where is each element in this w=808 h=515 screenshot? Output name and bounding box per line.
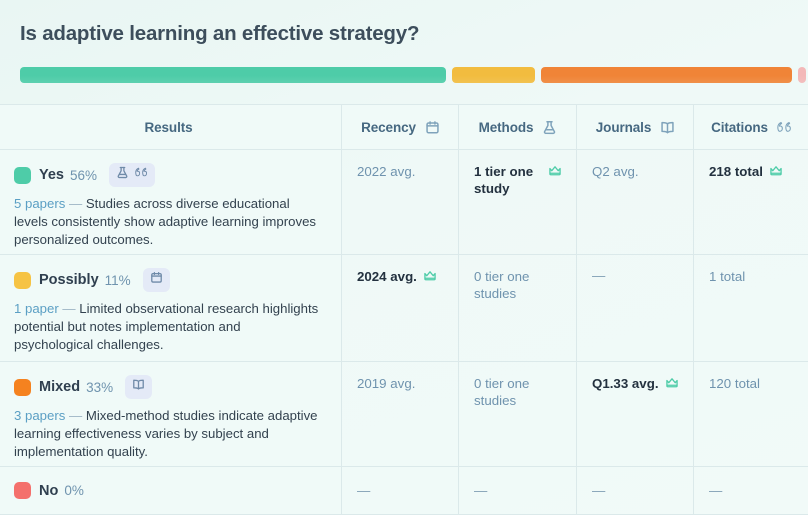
distribution-bar [20,67,788,83]
verdict-line: Possibly11% [14,268,323,292]
verdict-line: Yes56% [14,163,323,187]
empty-value: — [474,483,562,498]
row-summary: 1 paper — Limited observational research… [14,300,323,354]
results-cell[interactable]: Yes56%5 papers — Studies across diverse … [0,150,341,254]
recency-cell[interactable]: 2019 avg. [341,362,458,466]
summary-dash: — [62,301,75,316]
column-header-label: Journals [596,120,651,135]
methods-cell[interactable]: 1 tier one study [458,150,576,254]
recency-cell[interactable]: 2022 avg. [341,150,458,254]
papers-count: 3 papers [14,408,65,423]
column-header-label: Citations [711,120,768,135]
recency-cell[interactable]: — [341,467,458,514]
table-row[interactable]: Possibly11%1 paper — Limited observation… [0,255,808,362]
flask-icon [542,120,557,135]
citations-cell[interactable]: 1 total [693,255,808,361]
column-header-label: Methods [479,120,534,135]
calendar-icon [425,120,440,135]
verdict-label: Mixed [39,379,80,395]
results-cell[interactable]: Mixed33%3 papers — Mixed-method studies … [0,362,341,466]
table-header-row: ResultsRecencyMethodsJournalsCitations [0,105,808,150]
evidence-badge[interactable] [143,268,170,292]
column-header-journals[interactable]: Journals [576,105,693,149]
book-icon [660,120,675,135]
verdict-percent: 0% [64,483,84,498]
results-cell[interactable]: Possibly11%1 paper — Limited observation… [0,255,341,361]
column-header-citations[interactable]: Citations [693,105,808,149]
verdict-percent: 11% [105,273,131,288]
empty-value: — [592,483,679,498]
verdict-label: Possibly [39,272,99,288]
citations-cell[interactable]: 120 total [693,362,808,466]
journals-value: Q1.33 avg. [592,375,679,392]
crown-icon [423,269,437,283]
summary-dash: — [69,408,82,423]
citations-value: 1 total [709,268,794,285]
verdict-swatch [14,482,31,499]
recency-value: 2022 avg. [357,163,444,180]
methods-value: 1 tier one study [474,163,562,197]
column-header-recency[interactable]: Recency [341,105,458,149]
journals-value: Q2 avg. [592,163,679,180]
summary-dash: — [69,196,82,211]
results-cell[interactable]: No0% [0,467,341,514]
column-header-label: Results [144,120,192,135]
row-summary: 5 papers — Studies across diverse educat… [14,195,323,249]
methods-value: 0 tier one studies [474,375,562,409]
page-title: Is adaptive learning an effective strate… [20,22,788,47]
verdict-percent: 56% [70,168,97,183]
methods-cell[interactable]: 0 tier one studies [458,255,576,361]
citations-cell[interactable]: — [693,467,808,514]
verdict-label: Yes [39,167,64,183]
book-icon [132,378,145,396]
journals-cell[interactable]: Q1.33 avg. [576,362,693,466]
column-header-methods[interactable]: Methods [458,105,576,149]
crown-icon [769,164,783,178]
quote-icon [777,120,792,135]
papers-count: 1 paper [14,301,59,316]
bar-segment-possibly [452,67,536,83]
recency-value: 2019 avg. [357,375,444,392]
methods-value: 0 tier one studies [474,268,562,302]
review-summary-page: Is adaptive learning an effective strate… [0,0,808,515]
column-header-label: Recency [361,120,416,135]
verdict-swatch [14,167,31,184]
verdict-swatch [14,272,31,289]
empty-value: — [592,268,679,283]
journals-cell[interactable]: — [576,255,693,361]
verdict-swatch [14,379,31,396]
verdict-line: No0% [14,482,323,499]
methods-cell[interactable]: — [458,467,576,514]
citations-cell[interactable]: 218 total [693,150,808,254]
journals-cell[interactable]: Q2 avg. [576,150,693,254]
papers-count: 5 papers [14,196,65,211]
results-table: ResultsRecencyMethodsJournalsCitations Y… [0,104,808,515]
recency-cell[interactable]: 2024 avg. [341,255,458,361]
verdict-label: No [39,483,58,499]
citations-value: 218 total [709,163,794,180]
quote-icon [135,166,148,184]
calendar-icon [150,271,163,289]
verdict-line: Mixed33% [14,375,323,399]
table-row[interactable]: No0%———— [0,467,808,515]
verdict-percent: 33% [86,380,113,395]
page-header: Is adaptive learning an effective strate… [0,0,808,47]
journals-cell[interactable]: — [576,467,693,514]
empty-value: — [357,483,444,498]
citations-value: 120 total [709,375,794,392]
flask-icon [116,166,129,184]
table-row[interactable]: Mixed33%3 papers — Mixed-method studies … [0,362,808,467]
methods-cell[interactable]: 0 tier one studies [458,362,576,466]
row-summary: 3 papers — Mixed-method studies indicate… [14,407,323,461]
summary-text: Limited observational research highlight… [14,301,318,352]
bar-segment-yes [20,67,446,83]
crown-icon [548,164,562,178]
bar-segment-no [798,67,806,83]
empty-value: — [709,483,794,498]
recency-value: 2024 avg. [357,268,444,285]
table-row[interactable]: Yes56%5 papers — Studies across diverse … [0,150,808,255]
evidence-badge[interactable] [125,375,152,399]
crown-icon [665,376,679,390]
bar-segment-mixed [541,67,792,83]
column-header-results[interactable]: Results [0,105,341,149]
evidence-badge[interactable] [109,163,155,187]
